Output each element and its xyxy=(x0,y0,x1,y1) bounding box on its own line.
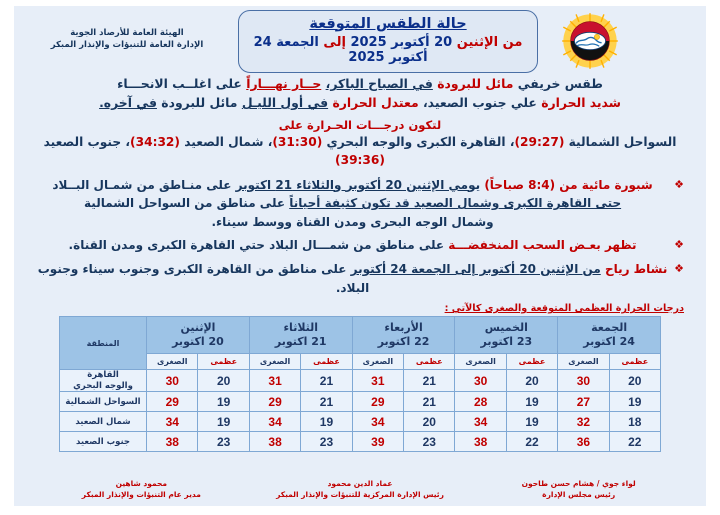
row-1-min-3: 19 xyxy=(506,392,557,412)
row-1-max-0: 29 xyxy=(147,392,198,412)
weather-summary: طقس خريفي مائل للبرودة في الصباح الباكر،… xyxy=(54,74,666,112)
bullet-1-line-1: تظهر بعـض السحب المنخفضـــة على مناطق من… xyxy=(36,236,669,255)
day-header-2: الأربعاء 22 اكتوبر xyxy=(352,317,455,354)
row-1-min-1: 21 xyxy=(301,392,352,412)
bullet-0-l2-a: حتى القاهرة الكبرى وشمال الصعيد قد تكون … xyxy=(289,196,621,210)
sub-header-max-3: عظمى xyxy=(506,354,557,370)
day-3-name: الخميس xyxy=(455,321,557,335)
row-1-min-4: 19 xyxy=(609,392,660,412)
table-header-row-days: الجمعة 24 اكتوبر الخميس 23 اكتوبر الأربع… xyxy=(60,317,661,354)
list-item: ❖ شبورة مائية من (8:4 صباحاً) يومي الإثن… xyxy=(36,176,684,232)
row-0-region-l1: القاهرة xyxy=(87,370,119,380)
row-2-min-4: 18 xyxy=(609,412,660,432)
row-0-min-4: 20 xyxy=(609,370,660,392)
bullet-0-line-2: حتى القاهرة الكبرى وشمال الصعيد قد تكون … xyxy=(36,194,669,213)
row-1-region: السواحل الشمالية xyxy=(60,392,147,412)
summary-l2-b: علي جنوب الصعيد، xyxy=(423,95,537,110)
summary-l1-e: على اغلــب الانحـــاء xyxy=(117,76,242,91)
summary-line-1: طقس خريفي مائل للبرودة في الصباح الباكر،… xyxy=(54,74,666,93)
sub-header-min-0: الصغرى xyxy=(147,354,198,370)
day-4-date: 24 اكتوبر xyxy=(558,335,660,349)
sub-header-max-1: عظمى xyxy=(301,354,352,370)
list-item: ❖ تظهر بعـض السحب المنخفضـــة على مناطق … xyxy=(36,236,684,255)
weather-bulletin-page: الهيئة العامة للأرصاد الجوية الإدارة الع… xyxy=(0,0,720,515)
logo-container xyxy=(544,12,636,70)
bulletin-header: الهيئة العامة للأرصاد الجوية الإدارة الع… xyxy=(14,6,706,72)
signatory-2-name: لواء جوي / هشام حسن طاحون xyxy=(469,478,688,489)
table-row: 18 32 19 34 20 34 19 34 19 34 شمال الصعي… xyxy=(60,412,661,432)
summary-l1-a: طقس خريفي xyxy=(518,76,603,91)
signatory-2: لواء جوي / هشام حسن طاحون رئيس مجلس الإد… xyxy=(469,478,688,501)
organization-department: الإدارة العامة للتنبؤات والإنذار المبكر xyxy=(22,39,232,51)
signatory-0: محمود شاهين مدير عام التنبؤات والإنذار ا… xyxy=(32,478,251,501)
date-range-start-day: الإثنين xyxy=(457,35,498,50)
row-1-max-2: 29 xyxy=(352,392,403,412)
day-3-date: 23 اكتوبر xyxy=(455,335,557,349)
bullet-1-l1-b: على مناطق من شمـــال البلاد حتي القاهرة … xyxy=(69,238,445,252)
row-3-min-4: 22 xyxy=(609,432,660,452)
signatory-1: عماد الدين محمود رئيس الإدارة المركزية ل… xyxy=(251,478,470,501)
row-3-min-3: 22 xyxy=(506,432,557,452)
row-1-max-1: 29 xyxy=(249,392,300,412)
temp-region-0-range: (29:27) xyxy=(514,135,564,149)
date-range-start-date: 20 أكتوبر 2025 xyxy=(350,35,452,50)
row-3-min-2: 23 xyxy=(404,432,455,452)
bullet-floret-icon: ❖ xyxy=(674,236,684,254)
temp-region-1-name: القاهرة الكبرى والوجه البحري xyxy=(327,135,506,149)
sub-header-min-1: الصغرى xyxy=(249,354,300,370)
row-2-min-3: 19 xyxy=(506,412,557,432)
page-title: حالة الطقس المتوقعة xyxy=(249,16,527,32)
signatory-1-name: عماد الدين محمود xyxy=(251,478,470,489)
bullet-0-l2-b: على مناطق من السواحل الشمالية xyxy=(84,196,285,210)
row-0-min-1: 21 xyxy=(301,370,352,392)
summary-l1-b: مائل للبرودة xyxy=(437,76,513,91)
day-4-name: الجمعة xyxy=(558,321,660,335)
temp-region-3-name: جنوب الصعيد xyxy=(44,135,122,149)
date-range: من الإثنين 20 أكتوبر 2025 إلى الجمعة 24 … xyxy=(249,35,527,65)
row-2-max-4: 32 xyxy=(558,412,609,432)
row-0-max-2: 31 xyxy=(352,370,403,392)
organization-block: الهيئة العامة للأرصاد الجوية الإدارة الع… xyxy=(22,27,232,56)
bullet-0-l1-b: يومي الإثنين 20 أكتوبر والثلاثاء 21 اكتو… xyxy=(236,178,480,192)
table-header-row-subs: عظمى الصغرى عظمى الصغرى عظمى الصغرى عظمى… xyxy=(60,354,661,370)
sub-header-max-4: عظمى xyxy=(609,354,660,370)
bullet-1-text: تظهر بعـض السحب المنخفضـــة على مناطق من… xyxy=(36,236,669,255)
forecast-bullet-list: ❖ شبورة مائية من (8:4 صباحاً) يومي الإثن… xyxy=(36,176,684,298)
day-2-date: 22 اكتوبر xyxy=(353,335,455,349)
temp-region-2-range: (34:32) xyxy=(130,135,180,149)
row-2-min-0: 19 xyxy=(198,412,249,432)
temperature-intro: لتكون درجـــات الحـرارة على xyxy=(14,118,706,132)
egyptian-meteorological-authority-logo-icon xyxy=(561,12,619,70)
sub-header-max-2: عظمى xyxy=(404,354,455,370)
day-header-3: الخميس 23 اكتوبر xyxy=(455,317,558,354)
row-0-min-0: 20 xyxy=(198,370,249,392)
row-3-max-3: 38 xyxy=(455,432,506,452)
summary-l2-d: في أول الليـل xyxy=(242,95,328,110)
signatory-0-role: مدير عام التنبؤات والإنذار المبكر xyxy=(32,489,251,500)
table-row: 22 36 22 38 23 39 23 38 23 38 جنوب الصعي… xyxy=(60,432,661,452)
row-0-min-3: 20 xyxy=(506,370,557,392)
bullet-2-line-1: نشاط رياح من الإثنين 20 أكتوبر إلى الجمع… xyxy=(36,260,669,297)
row-0-region-l2: والوجه البحري xyxy=(73,381,133,391)
day-1-name: الثلاثاء xyxy=(250,321,352,335)
summary-l2-c: معتدل الحرارة xyxy=(332,95,418,110)
summary-l1-c: في الصباح الباكر، xyxy=(326,76,433,91)
row-0-max-3: 30 xyxy=(455,370,506,392)
temp-region-2-name: شمال الصعيد xyxy=(184,135,263,149)
table-row: 19 27 19 28 21 29 21 29 19 29 السواحل ال… xyxy=(60,392,661,412)
summary-l2-e: مائل للبرودة xyxy=(161,95,237,110)
row-2-max-1: 34 xyxy=(249,412,300,432)
row-2-max-3: 34 xyxy=(455,412,506,432)
bullet-0-text: شبورة مائية من (8:4 صباحاً) يومي الإثنين… xyxy=(36,176,669,232)
signatory-2-role: رئيس مجلس الإدارة xyxy=(469,489,688,500)
row-3-region: جنوب الصعيد xyxy=(60,432,147,452)
summary-line-2: شديد الحرارة علي جنوب الصعيد، معتدل الحر… xyxy=(54,93,666,112)
bullet-floret-icon: ❖ xyxy=(674,260,684,278)
row-2-min-1: 19 xyxy=(301,412,352,432)
bullet-2-l1-a: نشاط رياح xyxy=(605,262,667,276)
bullet-0-line-1: شبورة مائية من (8:4 صباحاً) يومي الإثنين… xyxy=(36,176,669,195)
row-0-min-2: 21 xyxy=(404,370,455,392)
temp-region-1-range: (31:30) xyxy=(272,135,322,149)
day-header-0: الإثنين 20 اكتوبر xyxy=(147,317,250,354)
organization-name: الهيئة العامة للأرصاد الجوية xyxy=(22,27,232,39)
date-range-from-label: من xyxy=(503,35,523,50)
sub-header-min-4: الصغرى xyxy=(558,354,609,370)
title-box: حالة الطقس المتوقعة من الإثنين 20 أكتوبر… xyxy=(238,10,538,73)
day-header-1: الثلاثاء 21 اكتوبر xyxy=(249,317,352,354)
bullet-2-l1-c: على مناطق من القاهرة الكبرى وجنوب سيناء … xyxy=(38,262,369,295)
row-3-max-0: 38 xyxy=(147,432,198,452)
signatory-0-name: محمود شاهين xyxy=(32,478,251,489)
bullet-0-line-3: وشمال الوجه البحرى ومدن القناة ووسط سينا… xyxy=(36,213,669,232)
bulletin-sheet: الهيئة العامة للأرصاد الجوية الإدارة الع… xyxy=(14,6,706,506)
summary-l2-f: في آخره. xyxy=(99,95,157,110)
bullet-floret-icon: ❖ xyxy=(674,176,684,194)
row-2-max-2: 34 xyxy=(352,412,403,432)
row-2-max-0: 34 xyxy=(147,412,198,432)
temp-region-3-range: (39:36) xyxy=(335,153,385,167)
signatory-1-role: رئيس الإدارة المركزية للتنبؤات والإنذار … xyxy=(251,489,470,500)
day-0-date: 20 اكتوبر xyxy=(147,335,249,349)
sub-header-min-3: الصغرى xyxy=(455,354,506,370)
temp-region-0-name: السواحل الشمالية xyxy=(569,135,677,149)
row-1-max-3: 28 xyxy=(455,392,506,412)
row-0-max-4: 30 xyxy=(558,370,609,392)
row-3-max-1: 38 xyxy=(249,432,300,452)
bulletin-footer: محمود شاهين مدير عام التنبؤات والإنذار ا… xyxy=(14,478,706,501)
table-caption: درجات الحرارة العظمى المتوقعة والصغرى كا… xyxy=(36,303,684,314)
day-1-date: 21 اكتوبر xyxy=(250,335,352,349)
summary-l1-d: حــار نهـــاراً xyxy=(246,76,321,91)
row-0-max-1: 31 xyxy=(249,370,300,392)
temperature-table: الجمعة 24 اكتوبر الخميس 23 اكتوبر الأربع… xyxy=(59,316,661,452)
day-header-4: الجمعة 24 اكتوبر xyxy=(558,317,661,354)
row-3-max-4: 36 xyxy=(558,432,609,452)
row-3-max-2: 39 xyxy=(352,432,403,452)
row-3-min-0: 23 xyxy=(198,432,249,452)
summary-l2-a: شديد الحرارة xyxy=(541,95,621,110)
row-0-max-0: 30 xyxy=(147,370,198,392)
region-column-header: المنطقة xyxy=(60,317,147,370)
sub-header-min-2: الصغرى xyxy=(352,354,403,370)
day-0-name: الإثنين xyxy=(147,321,249,335)
bullet-0-l1-c: على منـاطق من شمـال البــلاد xyxy=(52,178,231,192)
date-range-to-label: إلى xyxy=(323,35,346,50)
table-row: 20 30 20 30 21 31 21 31 20 30 القاهرة وا… xyxy=(60,370,661,392)
temperature-table-container: الجمعة 24 اكتوبر الخميس 23 اكتوبر الأربع… xyxy=(59,316,661,452)
sub-header-max-0: عظمى xyxy=(198,354,249,370)
row-2-region: شمال الصعيد xyxy=(60,412,147,432)
temperature-ranges: السواحل الشمالية (29:27)، القاهرة الكبرى… xyxy=(22,134,698,168)
day-2-name: الأربعاء xyxy=(353,321,455,335)
date-range-end-day: الجمعة xyxy=(276,35,319,50)
row-0-region: القاهرة والوجه البحري xyxy=(60,370,147,392)
bullet-0-l1-a: شبورة مائية من (8:4 صباحاً) xyxy=(484,178,652,192)
row-1-min-0: 19 xyxy=(198,392,249,412)
row-1-min-2: 21 xyxy=(404,392,455,412)
row-2-min-2: 20 xyxy=(404,412,455,432)
bullet-2-l1-b: من الإثنين 20 أكتوبر إلى الجمعة 24 أكتوب… xyxy=(351,262,601,276)
list-item: ❖ نشاط رياح من الإثنين 20 أكتوبر إلى الج… xyxy=(36,260,684,297)
bullet-1-l1-a: تظهر بعـض السحب المنخفضـــة xyxy=(448,238,636,252)
bullet-2-text: نشاط رياح من الإثنين 20 أكتوبر إلى الجمع… xyxy=(36,260,669,297)
row-1-max-4: 27 xyxy=(558,392,609,412)
row-3-min-1: 23 xyxy=(301,432,352,452)
